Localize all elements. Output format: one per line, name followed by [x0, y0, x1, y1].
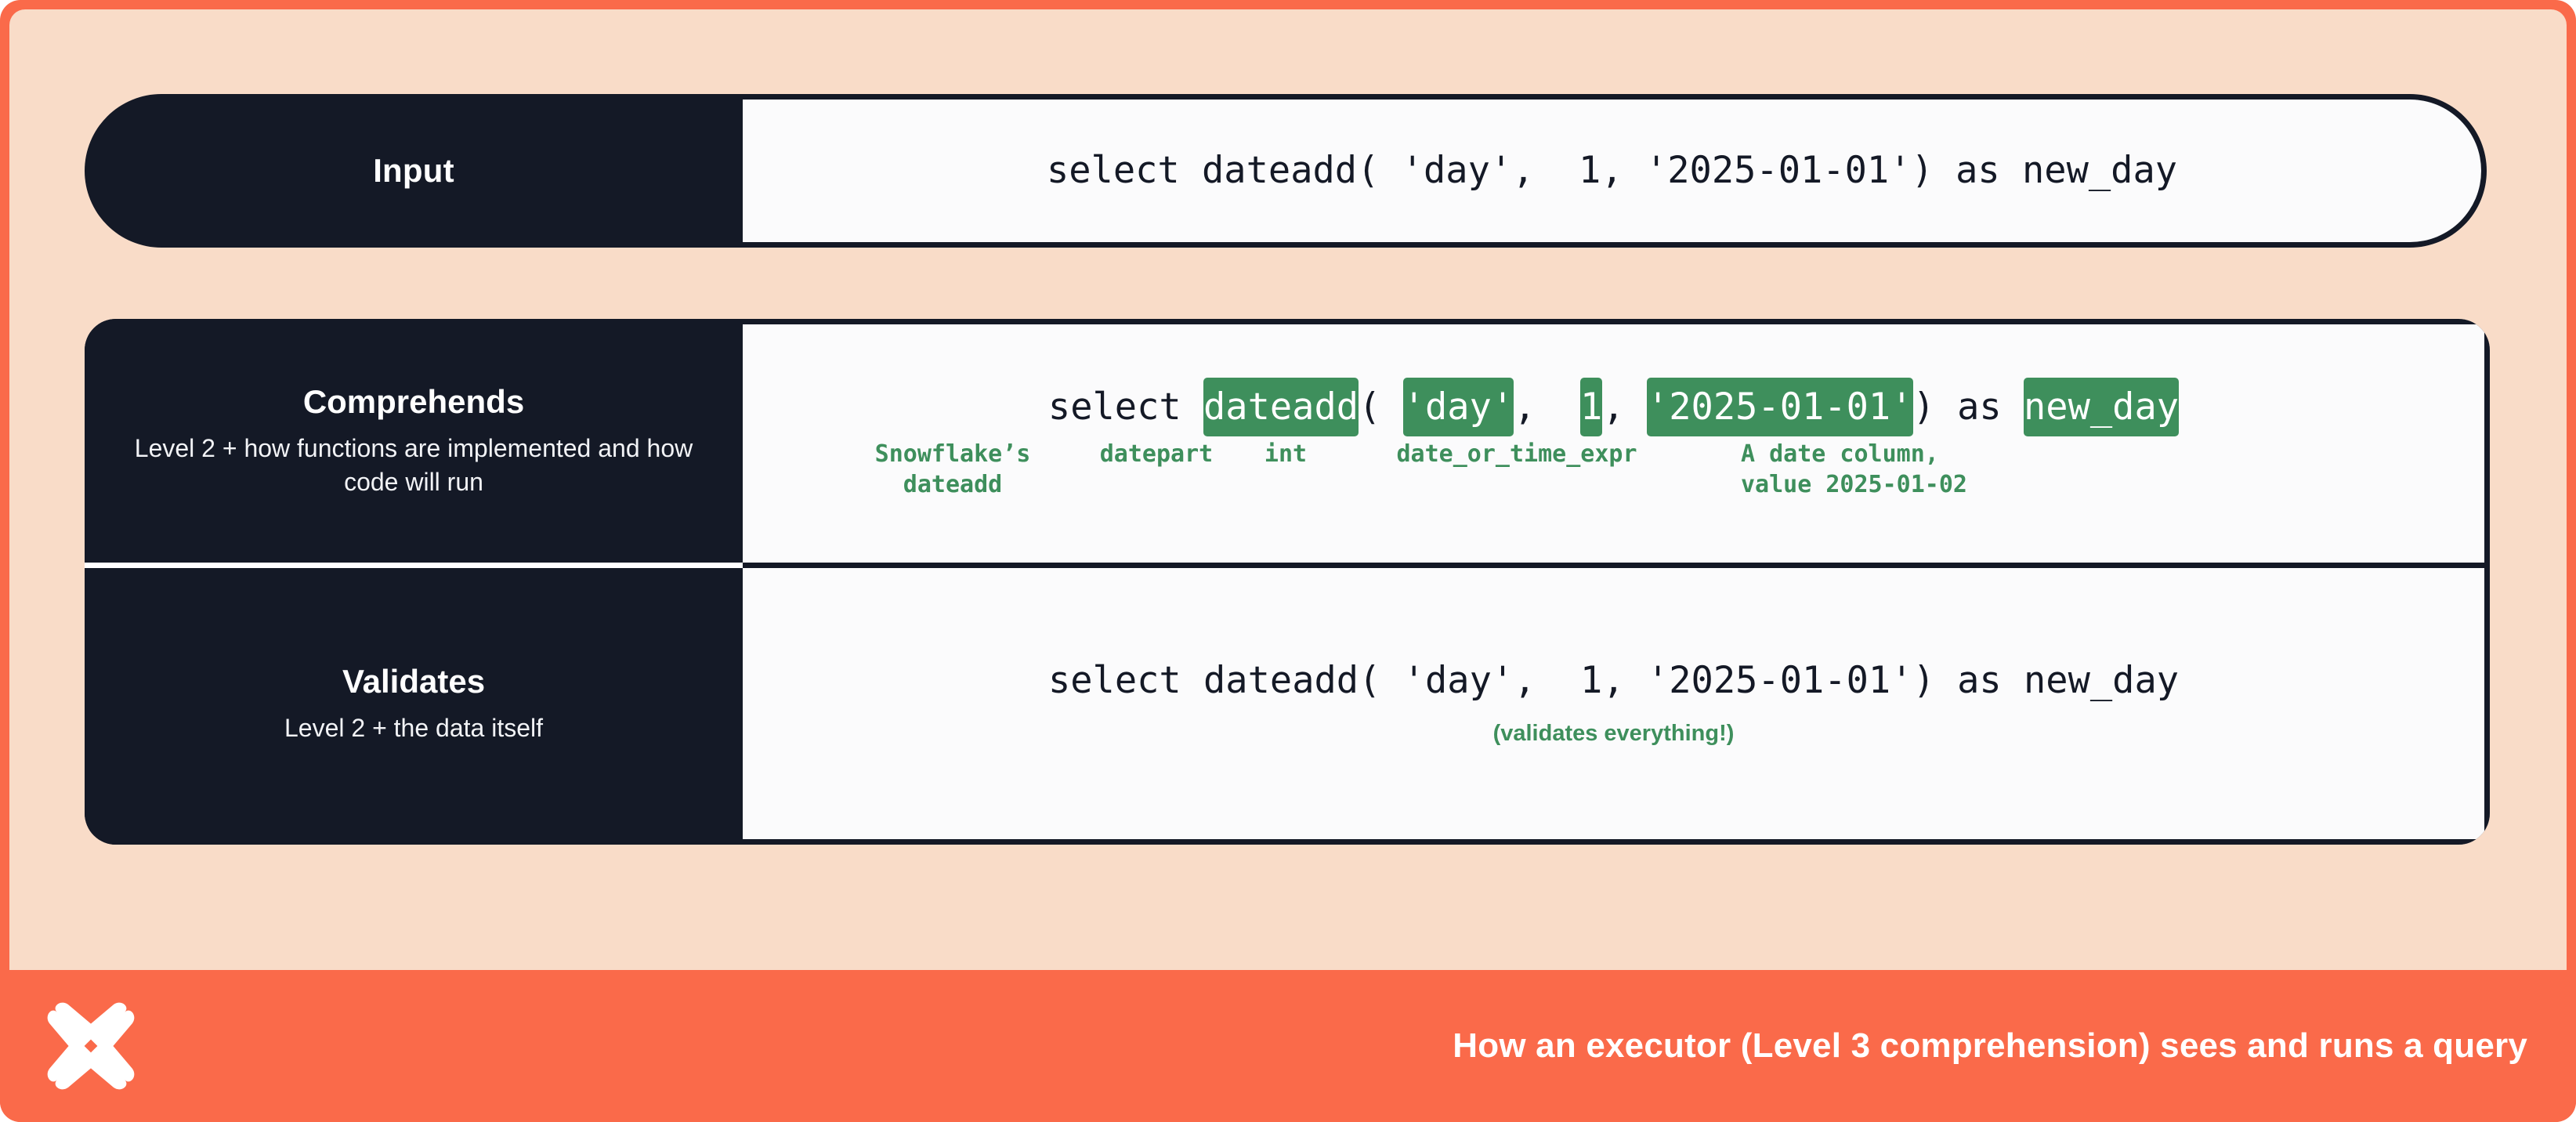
- input-label: Input: [373, 152, 454, 190]
- code-token-5: 1: [1580, 378, 1602, 436]
- annotation-dateadd: Snowflake’s dateadd: [835, 440, 1070, 500]
- code-token-9: new_day: [2024, 378, 2179, 436]
- validates-row: Validates Level 2 + the data itself sele…: [85, 563, 2490, 845]
- code-token-8: ) as: [1913, 385, 2024, 429]
- comprehends-label: Comprehends: [303, 383, 524, 421]
- footer-bar: How an executor (Level 3 comprehension) …: [0, 970, 2576, 1122]
- butterfly-x-logo-icon: [44, 999, 138, 1093]
- code-token-4: ,: [1514, 385, 1580, 429]
- annotation-row: Snowflake’s dateadd datepart int date_or…: [743, 440, 2484, 500]
- code-token-3: 'day': [1403, 378, 1514, 436]
- validates-code-text: select dateadd( 'day', 1, '2025-01-01') …: [1048, 661, 2179, 701]
- comprehends-label-cell: Comprehends Level 2 + how functions are …: [85, 319, 743, 563]
- validates-sublabel: Level 2 + the data itself: [284, 711, 543, 744]
- validates-label-cell: Validates Level 2 + the data itself: [85, 563, 743, 845]
- row-divider: [85, 563, 743, 568]
- code-token-1: dateadd: [1203, 378, 1359, 436]
- comprehension-levels-block: Comprehends Level 2 + how functions are …: [85, 319, 2490, 845]
- validates-note: (validates everything!): [1493, 721, 1735, 747]
- annotation-new-day: A date column, value 2025-01-02: [1741, 440, 2109, 500]
- comprehends-code-text: select dateadd( 'day', 1, '2025-01-01') …: [1048, 387, 2179, 428]
- validates-label: Validates: [342, 663, 485, 700]
- code-token-7: '2025-01-01': [1647, 378, 1913, 436]
- code-token-2: (: [1359, 385, 1403, 429]
- comprehends-sublabel: Level 2 + how functions are implemented …: [121, 432, 707, 498]
- comprehends-row: Comprehends Level 2 + how functions are …: [85, 319, 2490, 563]
- input-label-cell: Input: [85, 94, 743, 248]
- input-code-cell: select dateadd( 'day', 1, '2025-01-01') …: [743, 94, 2487, 248]
- code-token-6: ,: [1602, 385, 1647, 429]
- input-row: Input select dateadd( 'day', 1, '2025-01…: [85, 94, 2487, 248]
- validates-code-cell: select dateadd( 'day', 1, '2025-01-01') …: [743, 563, 2490, 845]
- input-code-text: select dateadd( 'day', 1, '2025-01-01') …: [1047, 150, 2177, 191]
- comprehends-code-cell: select dateadd( 'day', 1, '2025-01-01') …: [743, 319, 2490, 563]
- footer-caption: How an executor (Level 3 comprehension) …: [138, 1026, 2576, 1066]
- annotation-date-or-time-expr: date_or_time_expr: [1337, 440, 1697, 469]
- annotation-int: int: [1243, 440, 1329, 469]
- slide-card: Input select dateadd( 'day', 1, '2025-01…: [0, 0, 2576, 1122]
- annotation-datepart: datepart: [1078, 440, 1235, 469]
- code-token-0: select: [1048, 385, 1203, 429]
